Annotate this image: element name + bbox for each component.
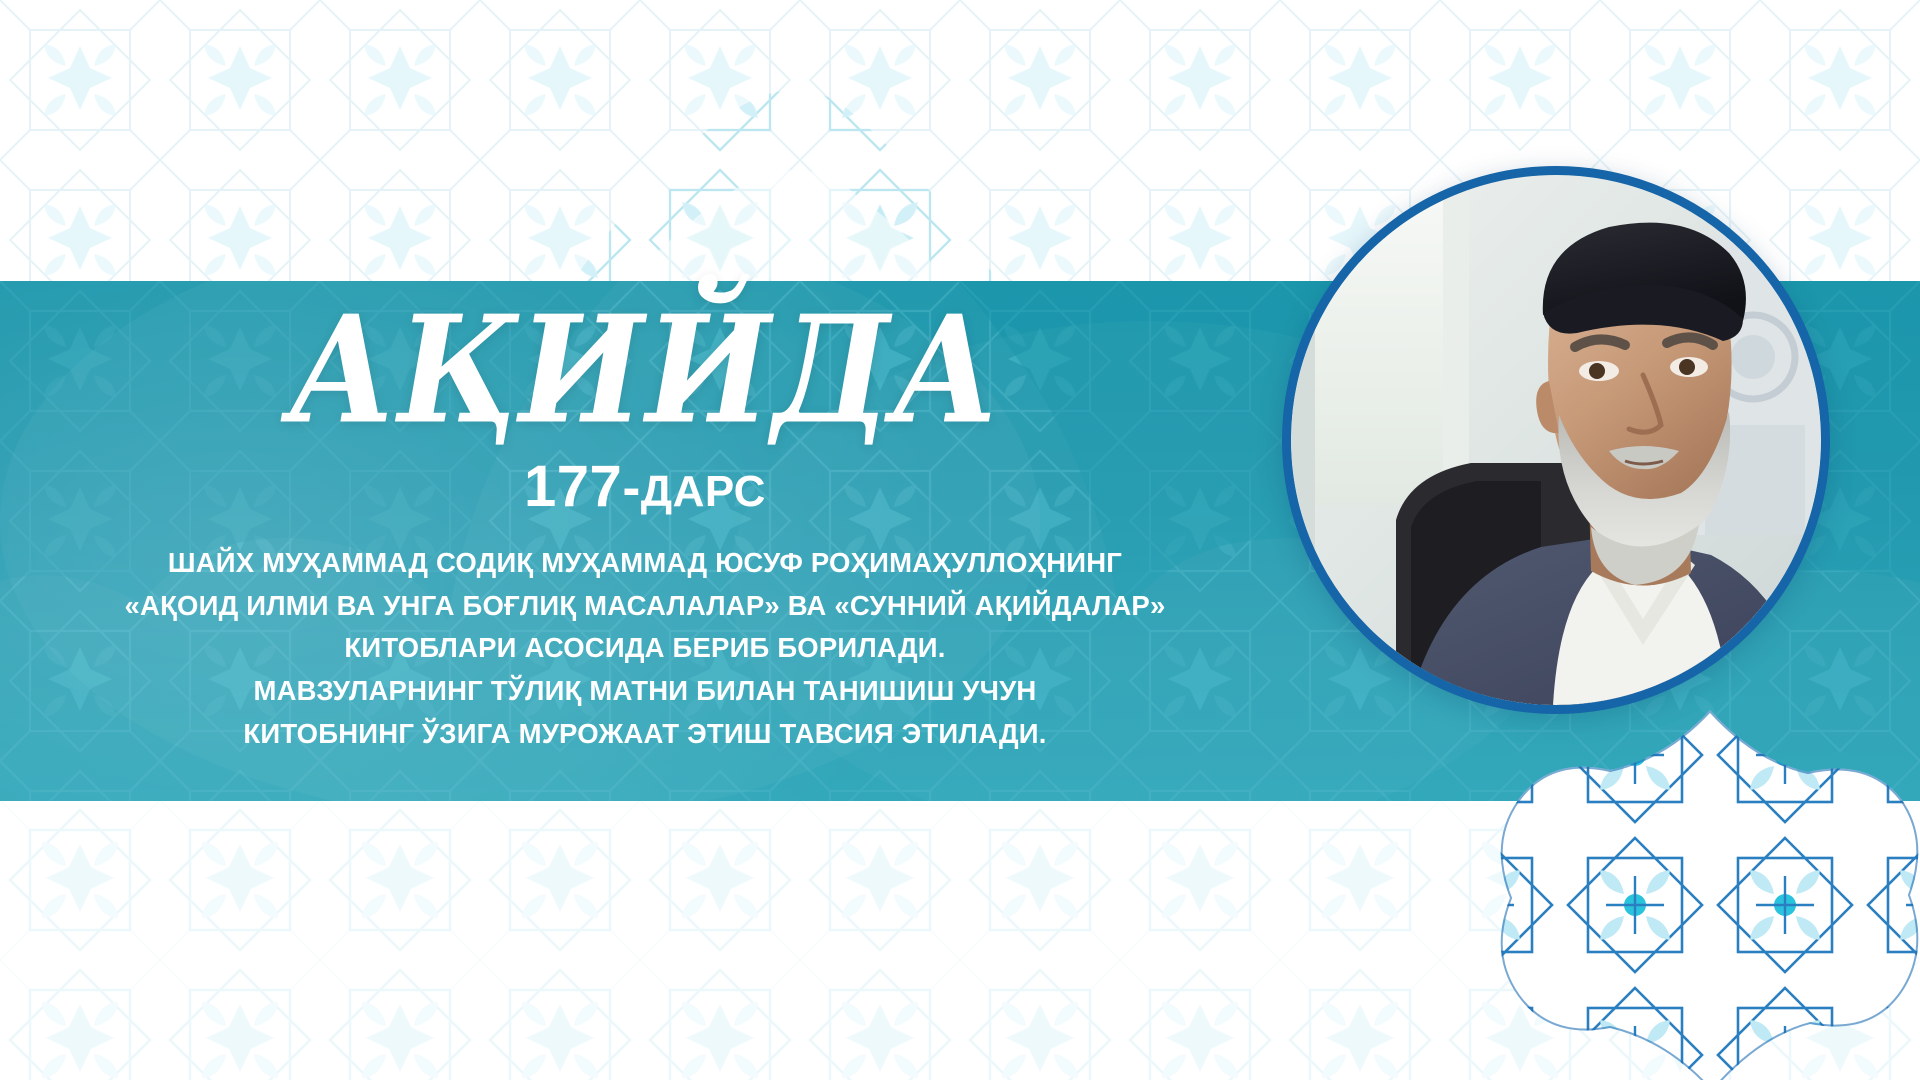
lesson-number: 177 <box>524 454 622 519</box>
description-line: КИТОБЛАРИ АСОСИДА БЕРИБ БОРИЛАДИ. <box>0 627 1290 670</box>
description-block: ШАЙХ МУҲАММАД СОДИҚ МУҲАММАД ЮСУФ РОҲИМА… <box>0 542 1290 756</box>
poster-canvas: АҚИЙДА 177-ДАРС ШАЙХ МУҲАММАД СОДИҚ МУҲА… <box>0 0 1920 1080</box>
page-title: АҚИЙДА <box>0 296 1290 447</box>
description-line: КИТОБНИНГ ЎЗИГА МУРОЖААТ ЭТИШ ТАВСИЯ ЭТИ… <box>0 713 1290 756</box>
portrait-photo <box>1291 175 1821 705</box>
lesson-separator: - <box>622 458 640 518</box>
description-line: ШАЙХ МУҲАММАД СОДИҚ МУҲАММАД ЮСУФ РОҲИМА… <box>0 542 1290 585</box>
corner-ornament <box>1410 680 1920 1080</box>
avatar <box>1282 166 1830 714</box>
lesson-label: 177-ДАРС <box>0 453 1290 520</box>
description-line: МАВЗУЛАРНИНГ ТЎЛИҚ МАТНИ БИЛАН ТАНИШИШ У… <box>0 670 1290 713</box>
lesson-word: ДАРС <box>641 467 766 516</box>
description-line: «АҚОИД ИЛМИ ВА УНГА БОҒЛИҚ МАСАЛАЛАР» ВА… <box>0 585 1290 628</box>
poster-text-block: АҚИЙДА 177-ДАРС ШАЙХ МУҲАММАД СОДИҚ МУҲА… <box>0 296 1290 756</box>
